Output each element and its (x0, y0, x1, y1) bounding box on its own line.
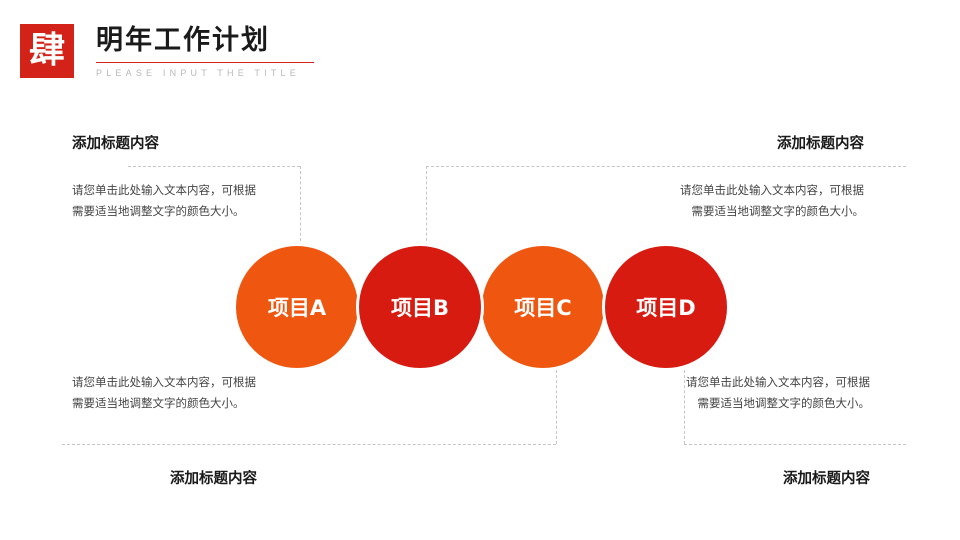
title-block: 明年工作计划 PLEASE INPUT THE TITLE (96, 24, 314, 78)
body-top-right: 请您单击此处输入文本内容，可根据 需要适当地调整文字的颜色大小。 (594, 180, 864, 223)
heading-top-left: 添加标题内容 (72, 132, 256, 153)
body-bottom-left: 请您单击此处输入文本内容，可根据 需要适当地调整文字的颜色大小。 (72, 372, 257, 415)
connector-top-right-vertical (426, 166, 427, 246)
circle-item-b[interactable]: 项目B (356, 243, 484, 371)
circle-item-c[interactable]: 项目C (479, 243, 607, 371)
text-block-top-left: 添加标题内容 请您单击此处输入文本内容，可根据 需要适当地调整文字的颜色大小。 (72, 132, 256, 223)
body-top-right-line1: 请您单击此处输入文本内容，可根据 (594, 180, 864, 201)
heading-bottom-right: 添加标题内容 (600, 467, 870, 488)
slide-header: 肆 明年工作计划 PLEASE INPUT THE TITLE (20, 24, 314, 78)
heading-bottom-left: 添加标题内容 (170, 467, 257, 488)
body-top-right-line2: 需要适当地调整文字的颜色大小。 (594, 201, 864, 222)
text-block-bottom-right: 请您单击此处输入文本内容，可根据 需要适当地调整文字的颜色大小。 添加标题内容 (600, 372, 870, 488)
connector-bottom-left-vertical (556, 370, 557, 444)
body-top-left-line1: 请您单击此处输入文本内容，可根据 (72, 180, 256, 201)
circle-item-d[interactable]: 项目D (602, 243, 730, 371)
body-bottom-right-line1: 请您单击此处输入文本内容，可根据 (600, 372, 870, 393)
body-bottom-right: 请您单击此处输入文本内容，可根据 需要适当地调整文字的颜色大小。 (600, 372, 870, 415)
page-title: 明年工作计划 (96, 26, 314, 56)
title-divider (96, 62, 314, 63)
circle-item-a[interactable]: 项目A (233, 243, 361, 371)
page-subtitle: PLEASE INPUT THE TITLE (96, 68, 314, 78)
section-number-badge: 肆 (20, 24, 74, 78)
body-top-left-line2: 需要适当地调整文字的颜色大小。 (72, 201, 256, 222)
body-bottom-right-line2: 需要适当地调整文字的颜色大小。 (600, 393, 870, 414)
text-block-bottom-left: 请您单击此处输入文本内容，可根据 需要适当地调整文字的颜色大小。 添加标题内容 (72, 372, 257, 488)
body-bottom-left-line2: 需要适当地调整文字的颜色大小。 (72, 393, 257, 414)
slide: 肆 明年工作计划 PLEASE INPUT THE TITLE 项目A 项目C … (0, 0, 960, 540)
connector-top-left-vertical (300, 166, 301, 246)
text-block-top-right: 添加标题内容 请您单击此处输入文本内容，可根据 需要适当地调整文字的颜色大小。 (594, 132, 864, 223)
body-bottom-left-line1: 请您单击此处输入文本内容，可根据 (72, 372, 257, 393)
heading-top-right: 添加标题内容 (594, 132, 864, 153)
body-top-left: 请您单击此处输入文本内容，可根据 需要适当地调整文字的颜色大小。 (72, 180, 256, 223)
